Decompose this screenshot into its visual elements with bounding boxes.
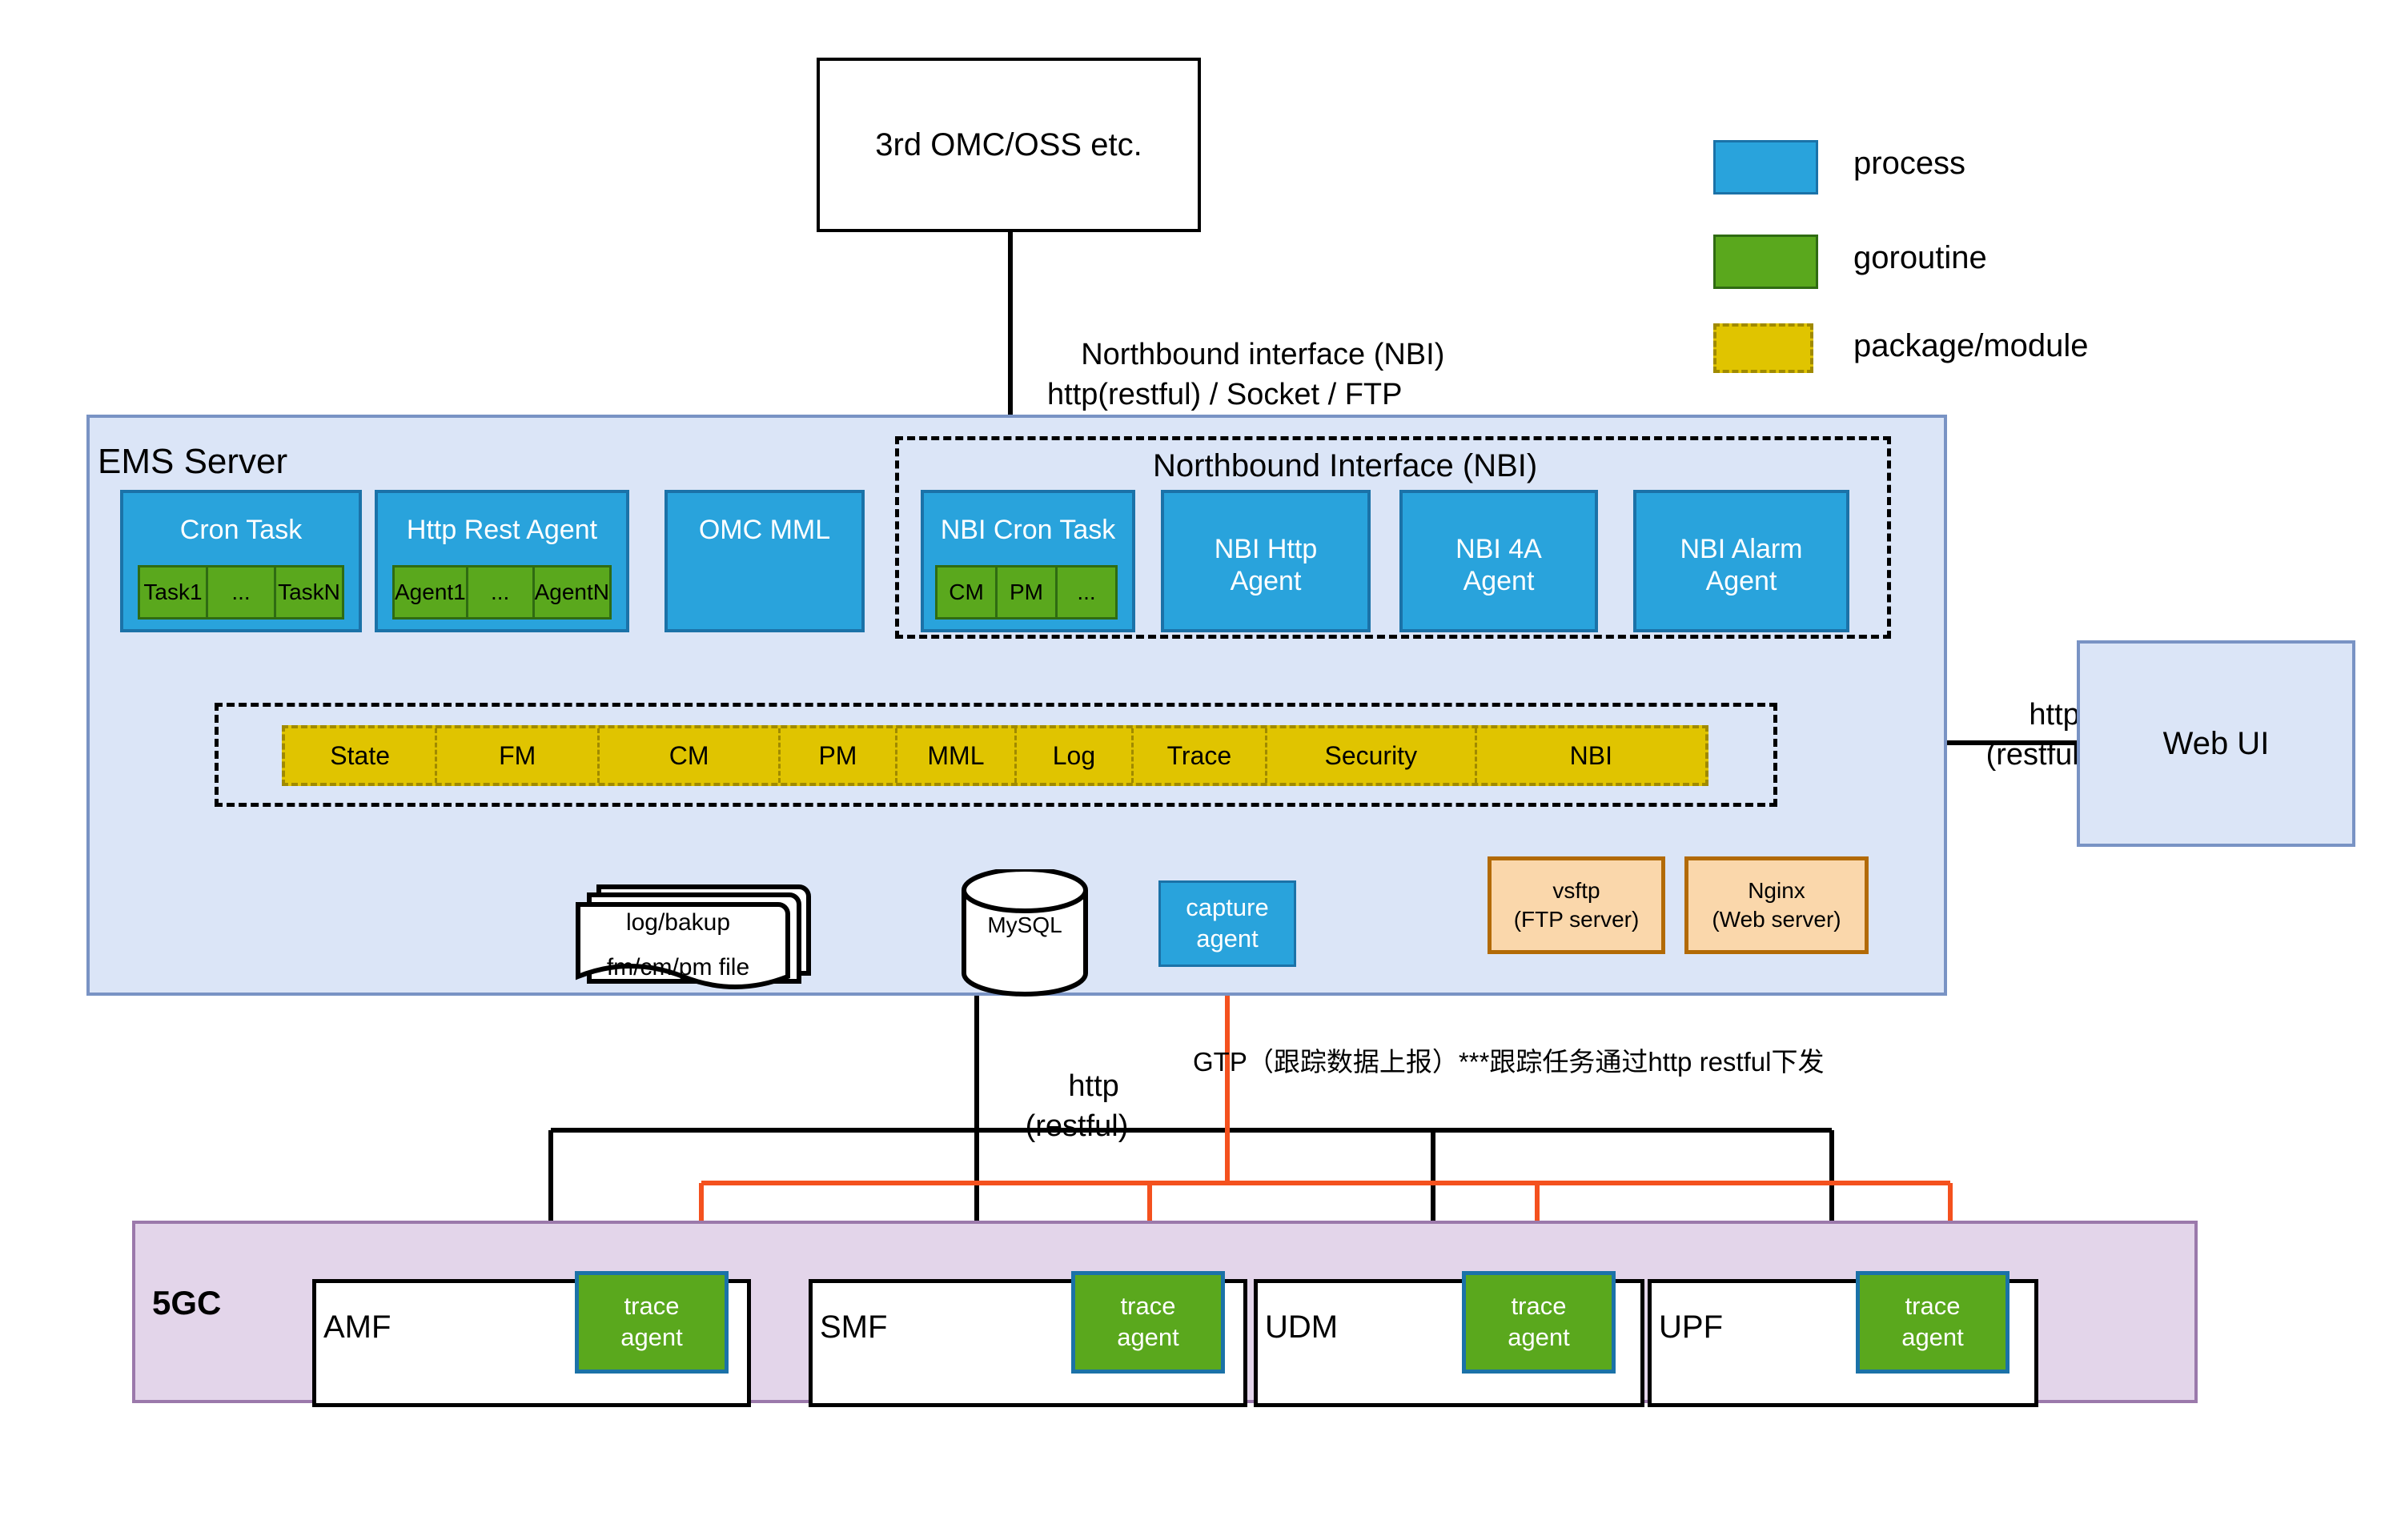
goroutine-cell[interactable]: ... bbox=[468, 567, 535, 617]
file-store-line2: fm/cm/pm file bbox=[570, 954, 786, 981]
trace-agent-upf[interactable]: trace agent bbox=[1856, 1271, 2010, 1374]
legend-label-package: package/module bbox=[1853, 328, 2089, 364]
module-trace[interactable]: Trace bbox=[1134, 728, 1267, 783]
module-log[interactable]: Log bbox=[1017, 728, 1134, 783]
external-omc-oss-label: 3rd OMC/OSS etc. bbox=[875, 127, 1142, 163]
nf-upf-label: UPF bbox=[1659, 1309, 1723, 1345]
module-mml[interactable]: MML bbox=[897, 728, 1017, 783]
gc-title: 5GC bbox=[152, 1284, 221, 1322]
trace-agent-line2: agent bbox=[1117, 1322, 1179, 1354]
process-nbi-cron-task-label: NBI Cron Task bbox=[941, 493, 1116, 546]
mysql-label: MySQL bbox=[953, 912, 1097, 938]
trace-agent-amf[interactable]: trace agent bbox=[575, 1271, 729, 1374]
goroutine-strip-http-rest-agent: Agent1 ... AgentN bbox=[392, 565, 612, 620]
webui-label: Web UI bbox=[2163, 726, 2270, 762]
goroutine-cell[interactable]: PM bbox=[998, 567, 1058, 617]
service-vsftp-line1: vsftp bbox=[1552, 876, 1600, 905]
module-fm[interactable]: FM bbox=[437, 728, 600, 783]
process-omc-mml-label: OMC MML bbox=[699, 493, 830, 546]
trace-agent-line1: trace bbox=[1905, 1291, 1961, 1322]
legend-swatch-goroutine bbox=[1713, 235, 1818, 289]
southbound-gtp-label: GTP（跟踪数据上报）***跟踪任务通过http restful下发 bbox=[1193, 1041, 1824, 1079]
goroutine-cell[interactable]: TaskN bbox=[276, 567, 342, 617]
legend-label-process: process bbox=[1853, 146, 1965, 182]
service-nginx-line1: Nginx bbox=[1748, 876, 1805, 905]
trace-agent-line2: agent bbox=[620, 1322, 683, 1354]
module-pm[interactable]: PM bbox=[781, 728, 897, 783]
capture-agent-line1: capture bbox=[1186, 892, 1268, 924]
process-nbi-4a-agent[interactable]: NBI 4A Agent bbox=[1399, 490, 1598, 632]
webui-box[interactable]: Web UI bbox=[2077, 640, 2355, 847]
diagram-canvas: 3rd OMC/OSS etc. Northbound interface (N… bbox=[0, 0, 2405, 1540]
service-nginx-box[interactable]: Nginx (Web server) bbox=[1684, 856, 1869, 954]
process-omc-mml[interactable]: OMC MML bbox=[664, 490, 865, 632]
southbound-http-label: http (restful) bbox=[1001, 1026, 1153, 1187]
goroutine-strip-cron-task: Task1 ... TaskN bbox=[138, 565, 344, 620]
nf-udm-label: UDM bbox=[1265, 1309, 1338, 1345]
goroutine-cell[interactable]: ... bbox=[208, 567, 276, 617]
external-omc-oss-box: 3rd OMC/OSS etc. bbox=[817, 58, 1201, 232]
service-vsftp-box[interactable]: vsftp (FTP server) bbox=[1488, 856, 1665, 954]
module-bar: State FM CM PM MML Log Trace Security NB… bbox=[282, 725, 1708, 786]
process-cron-task-label: Cron Task bbox=[180, 493, 302, 546]
module-cm[interactable]: CM bbox=[600, 728, 781, 783]
file-store-line1: log/bakup bbox=[578, 909, 778, 936]
legend-swatch-package bbox=[1713, 323, 1813, 373]
nf-amf-label: AMF bbox=[323, 1309, 391, 1345]
process-nbi-4a-agent-label: NBI 4A Agent bbox=[1455, 493, 1542, 597]
process-nbi-http-agent-label: NBI Http Agent bbox=[1215, 493, 1317, 597]
service-nginx-line2: (Web server) bbox=[1712, 905, 1841, 934]
trace-agent-line2: agent bbox=[1901, 1322, 1964, 1354]
module-nbi[interactable]: NBI bbox=[1477, 728, 1705, 783]
capture-agent-box[interactable]: capture agent bbox=[1158, 880, 1296, 967]
trace-agent-line1: trace bbox=[1121, 1291, 1176, 1322]
goroutine-cell[interactable]: CM bbox=[938, 567, 998, 617]
ems-server-title: EMS Server bbox=[98, 442, 287, 482]
legend-swatch-process bbox=[1713, 140, 1818, 195]
goroutine-cell[interactable]: ... bbox=[1058, 567, 1115, 617]
process-http-rest-agent-label: Http Rest Agent bbox=[407, 493, 597, 546]
legend-label-goroutine: goroutine bbox=[1853, 240, 1987, 276]
goroutine-cell[interactable]: AgentN bbox=[535, 567, 609, 617]
goroutine-cell[interactable]: Task1 bbox=[140, 567, 208, 617]
module-state[interactable]: State bbox=[285, 728, 437, 783]
trace-agent-line2: agent bbox=[1508, 1322, 1570, 1354]
trace-agent-udm[interactable]: trace agent bbox=[1462, 1271, 1616, 1374]
service-vsftp-line2: (FTP server) bbox=[1514, 905, 1640, 934]
process-nbi-http-agent[interactable]: NBI Http Agent bbox=[1161, 490, 1371, 632]
nbi-group-title: Northbound Interface (NBI) bbox=[1153, 448, 1537, 484]
trace-agent-line1: trace bbox=[1512, 1291, 1567, 1322]
goroutine-strip-nbi-cron-task: CM PM ... bbox=[935, 565, 1118, 620]
process-nbi-alarm-agent[interactable]: NBI Alarm Agent bbox=[1633, 490, 1849, 632]
capture-agent-line2: agent bbox=[1196, 924, 1259, 955]
nf-smf-label: SMF bbox=[820, 1309, 887, 1345]
trace-agent-line1: trace bbox=[624, 1291, 680, 1322]
goroutine-cell[interactable]: Agent1 bbox=[395, 567, 468, 617]
process-nbi-alarm-agent-label: NBI Alarm Agent bbox=[1680, 493, 1802, 597]
trace-agent-smf[interactable]: trace agent bbox=[1071, 1271, 1225, 1374]
module-security[interactable]: Security bbox=[1267, 728, 1477, 783]
